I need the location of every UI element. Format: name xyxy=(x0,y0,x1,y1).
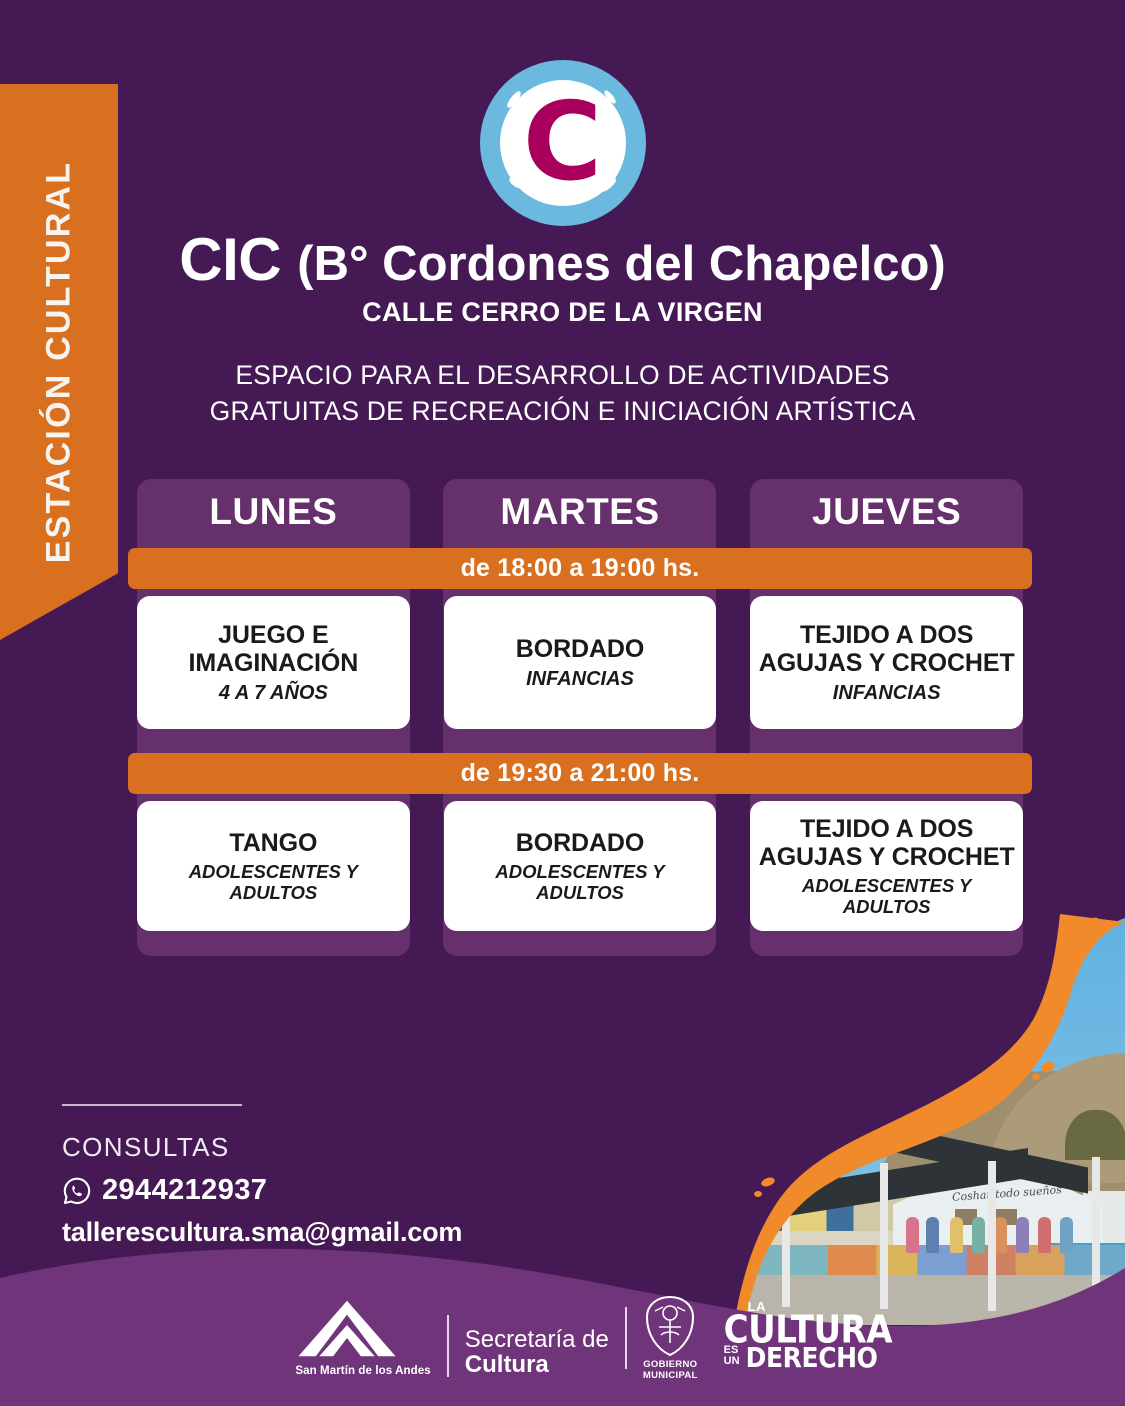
gobierno-municipal-logo: GOBIERNO MUNICIPAL xyxy=(643,1295,698,1382)
derecho-un: UN xyxy=(724,1356,740,1367)
description-line-2: GRATUITAS DE RECREACIÓN E INICIACIÓN ART… xyxy=(60,394,1065,430)
sanmartin-logo: San Martín de los Andes Secretaría de Cu… xyxy=(295,1299,609,1377)
time-band-1: de 18:00 a 19:00 hs. xyxy=(128,548,1032,589)
activity-title: BORDADO xyxy=(516,635,644,663)
activity-row-1: JUEGO E IMAGINACIÓN 4 A 7 AÑOS BORDADO I… xyxy=(137,596,1023,729)
day-header-lunes: LUNES xyxy=(137,479,410,545)
activity-row-2: TANGO ADOLESCENTES Y ADULTOS BORDADO ADO… xyxy=(137,801,1023,931)
activity-audience: INFANCIAS xyxy=(526,668,634,690)
cic-logo: C xyxy=(480,60,646,226)
contact-phone-row[interactable]: 2944212937 xyxy=(62,1174,462,1207)
poster-root: Coshar todo sueños ESTACIÓN CULTURAL C C xyxy=(0,0,1125,1406)
activity-title: BORDADO xyxy=(516,829,644,857)
contact-divider xyxy=(62,1104,242,1106)
title-parenthetical: (B° Cordones del Chapelco) xyxy=(297,237,945,291)
activity-audience: ADOLESCENTES Y ADULTOS xyxy=(452,862,709,903)
activity-card: TEJIDO A DOS AGUJAS Y CROCHET ADOLESCENT… xyxy=(750,801,1023,931)
activity-audience: ADOLESCENTES Y ADULTOS xyxy=(145,862,402,903)
activity-card: TEJIDO A DOS AGUJAS Y CROCHET INFANCIAS xyxy=(750,596,1023,729)
activity-card: JUEGO E IMAGINACIÓN 4 A 7 AÑOS xyxy=(137,596,410,729)
gobierno-municipal-label: GOBIERNO MUNICIPAL xyxy=(643,1360,698,1382)
contact-email[interactable]: tallerescultura.sma@gmail.com xyxy=(62,1217,462,1248)
secretaria-cultura-label: Secretaría de Cultura xyxy=(465,1327,609,1377)
page-title: CIC (B° Cordones del Chapelco) xyxy=(60,228,1065,291)
day-header-jueves: JUEVES xyxy=(750,479,1023,545)
contact-label: CONSULTAS xyxy=(62,1132,462,1163)
activity-title: JUEGO E IMAGINACIÓN xyxy=(145,621,402,677)
secretaria-line-2: Cultura xyxy=(465,1352,609,1377)
mountain-icon xyxy=(295,1299,399,1358)
activity-title: TEJIDO A DOS AGUJAS Y CROCHET xyxy=(758,815,1015,871)
derecho-derecho: DERECHO xyxy=(746,1341,878,1373)
gobierno-line-1: GOBIERNO xyxy=(643,1360,698,1371)
activity-title: TANGO xyxy=(229,829,317,857)
street-subtitle: CALLE CERRO DE LA VIRGEN xyxy=(60,297,1065,328)
municipal-crest-icon xyxy=(643,1295,697,1357)
contact-block: CONSULTAS 2944212937 tallerescultura.sma… xyxy=(62,1104,462,1248)
schedule-grid: LUNES MARTES JUEVES de 18:00 a 19:00 hs.… xyxy=(137,479,1023,931)
activity-audience: ADOLESCENTES Y ADULTOS xyxy=(758,876,1015,917)
activity-card: BORDADO ADOLESCENTES Y ADULTOS xyxy=(444,801,717,931)
activity-audience: 4 A 7 AÑOS xyxy=(219,682,328,704)
cultura-derecho-logo: LA CULTURA ES UN DERECHO xyxy=(724,1299,830,1377)
footer-divider xyxy=(447,1315,449,1377)
side-banner: ESTACIÓN CULTURAL xyxy=(0,84,118,640)
logo-letter: C xyxy=(523,89,602,197)
sanmartin-label: San Martín de los Andes xyxy=(295,1365,430,1377)
header-block: CIC (B° Cordones del Chapelco) CALLE CER… xyxy=(0,228,1125,430)
day-header-martes: MARTES xyxy=(444,479,717,545)
activity-card: TANGO ADOLESCENTES Y ADULTOS xyxy=(137,801,410,931)
footer-divider xyxy=(625,1307,627,1369)
day-header-row: LUNES MARTES JUEVES xyxy=(137,479,1023,545)
description-block: ESPACIO PARA EL DESARROLLO DE ACTIVIDADE… xyxy=(60,358,1065,430)
description-line-1: ESPACIO PARA EL DESARROLLO DE ACTIVIDADE… xyxy=(60,358,1065,394)
title-main: CIC xyxy=(179,226,281,293)
footer-logos: San Martín de los Andes Secretaría de Cu… xyxy=(0,1288,1125,1388)
secretaria-line-1: Secretaría de xyxy=(465,1326,609,1353)
whatsapp-icon xyxy=(62,1176,92,1206)
time-band-2: de 19:30 a 21:00 hs. xyxy=(128,753,1032,794)
activity-card: BORDADO INFANCIAS xyxy=(444,596,717,729)
side-banner-label: ESTACIÓN CULTURAL xyxy=(40,161,79,564)
activity-title: TEJIDO A DOS AGUJAS Y CROCHET xyxy=(758,621,1015,677)
activity-audience: INFANCIAS xyxy=(833,682,941,704)
gobierno-line-2: MUNICIPAL xyxy=(643,1371,698,1382)
contact-phone-number: 2944212937 xyxy=(102,1174,267,1207)
